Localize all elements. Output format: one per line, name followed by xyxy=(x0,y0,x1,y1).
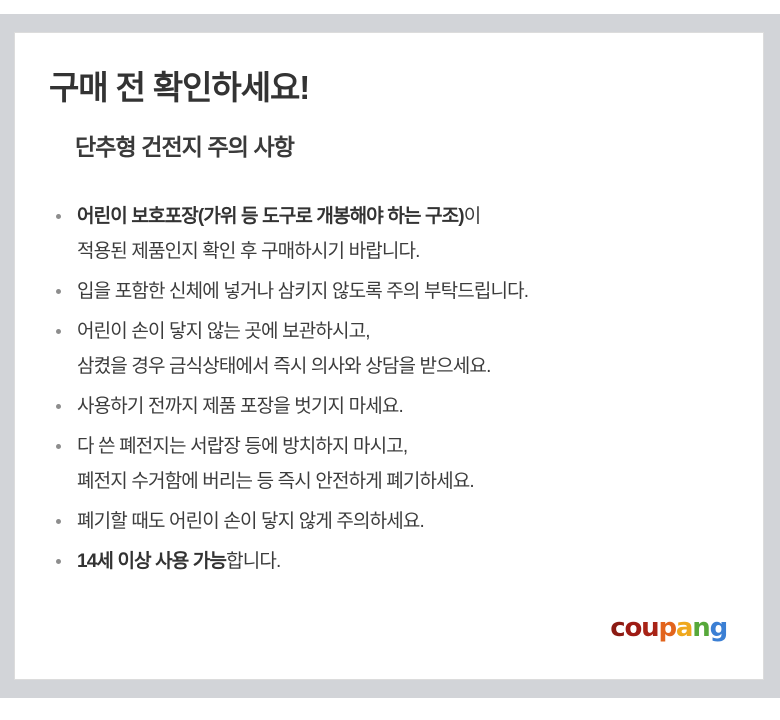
bullet-dot-icon xyxy=(56,404,61,409)
bullet-dot-icon xyxy=(56,329,61,334)
bullet-dot-icon xyxy=(56,559,61,564)
coupang-logo-letter: a xyxy=(676,613,692,643)
notice-text: 사용하기 전까지 제품 포장을 벗기지 마세요. xyxy=(77,396,403,417)
notice-text: 이 xyxy=(464,206,481,227)
notice-emphasis: 14세 이상 사용 가능 xyxy=(77,551,226,572)
notice-text: 어린이 손이 닿지 않는 곳에 보관하시고, xyxy=(77,321,370,342)
notice-item: 사용하기 전까지 제품 포장을 벗기지 마세요. xyxy=(53,389,725,424)
notice-text: 폐기할 때도 어린이 손이 닿지 않게 주의하세요. xyxy=(77,511,424,532)
coupang-logo-letter: g xyxy=(710,613,727,643)
notice-line: 14세 이상 사용 가능합니다. xyxy=(77,544,725,579)
bullet-dot-icon xyxy=(56,214,61,219)
notice-line: 다 쓴 폐전지는 서랍장 등에 방치하지 마시고, xyxy=(77,429,725,464)
notice-text: 다 쓴 폐전지는 서랍장 등에 방치하지 마시고, xyxy=(77,436,407,457)
coupang-logo-letter: p xyxy=(658,613,675,643)
notice-line: 삼켰을 경우 금식상태에서 즉시 의사와 상담을 받으세요. xyxy=(77,349,725,384)
bullet-dot-icon xyxy=(56,519,61,524)
page-subtitle: 단추형 건전지 주의 사항 xyxy=(75,135,294,160)
coupang-logo: coupang xyxy=(610,615,727,641)
coupang-logo-letter: o xyxy=(625,613,642,643)
page-title: 구매 전 확인하세요! xyxy=(49,70,309,106)
notice-item: 어린이 손이 닿지 않는 곳에 보관하시고,삼켰을 경우 금식상태에서 즉시 의… xyxy=(53,314,725,384)
notice-item: 입을 포함한 신체에 넣거나 삼키지 않도록 주의 부탁드립니다. xyxy=(53,274,725,309)
bullet-dot-icon xyxy=(56,444,61,449)
notice-item: 14세 이상 사용 가능합니다. xyxy=(53,544,725,579)
notice-page: 구매 전 확인하세요! 단추형 건전지 주의 사항 어린이 보호포장(가위 등 … xyxy=(0,0,780,720)
notice-item: 다 쓴 폐전지는 서랍장 등에 방치하지 마시고,폐전지 수거함에 버리는 등 … xyxy=(53,429,725,499)
notice-emphasis: 어린이 보호포장(가위 등 도구로 개봉해야 하는 구조) xyxy=(77,206,464,227)
notice-line: 어린이 보호포장(가위 등 도구로 개봉해야 하는 구조)이 xyxy=(77,199,725,234)
notice-text: 입을 포함한 신체에 넣거나 삼키지 않도록 주의 부탁드립니다. xyxy=(77,281,528,302)
coupang-logo-letter: n xyxy=(692,613,709,643)
notice-line: 폐기할 때도 어린이 손이 닿지 않게 주의하세요. xyxy=(77,504,725,539)
coupang-logo-letter: c xyxy=(610,613,624,643)
notice-item: 폐기할 때도 어린이 손이 닿지 않게 주의하세요. xyxy=(53,504,725,539)
notice-item: 어린이 보호포장(가위 등 도구로 개봉해야 하는 구조)이적용된 제품인지 확… xyxy=(53,199,725,269)
notice-list: 어린이 보호포장(가위 등 도구로 개봉해야 하는 구조)이적용된 제품인지 확… xyxy=(53,199,725,584)
coupang-logo-letter: u xyxy=(641,613,658,643)
notice-text: 적용된 제품인지 확인 후 구매하시기 바랍니다. xyxy=(77,241,420,262)
notice-text: 폐전지 수거함에 버리는 등 즉시 안전하게 폐기하세요. xyxy=(77,471,474,492)
notice-text: 삼켰을 경우 금식상태에서 즉시 의사와 상담을 받으세요. xyxy=(77,356,491,377)
notice-text: 합니다. xyxy=(226,551,280,572)
notice-line: 사용하기 전까지 제품 포장을 벗기지 마세요. xyxy=(77,389,725,424)
notice-line: 어린이 손이 닿지 않는 곳에 보관하시고, xyxy=(77,314,725,349)
bullet-dot-icon xyxy=(56,289,61,294)
notice-line: 적용된 제품인지 확인 후 구매하시기 바랍니다. xyxy=(77,234,725,269)
notice-line: 입을 포함한 신체에 넣거나 삼키지 않도록 주의 부탁드립니다. xyxy=(77,274,725,309)
notice-line: 폐전지 수거함에 버리는 등 즉시 안전하게 폐기하세요. xyxy=(77,464,725,499)
notice-card: 구매 전 확인하세요! 단추형 건전지 주의 사항 어린이 보호포장(가위 등 … xyxy=(14,32,764,680)
